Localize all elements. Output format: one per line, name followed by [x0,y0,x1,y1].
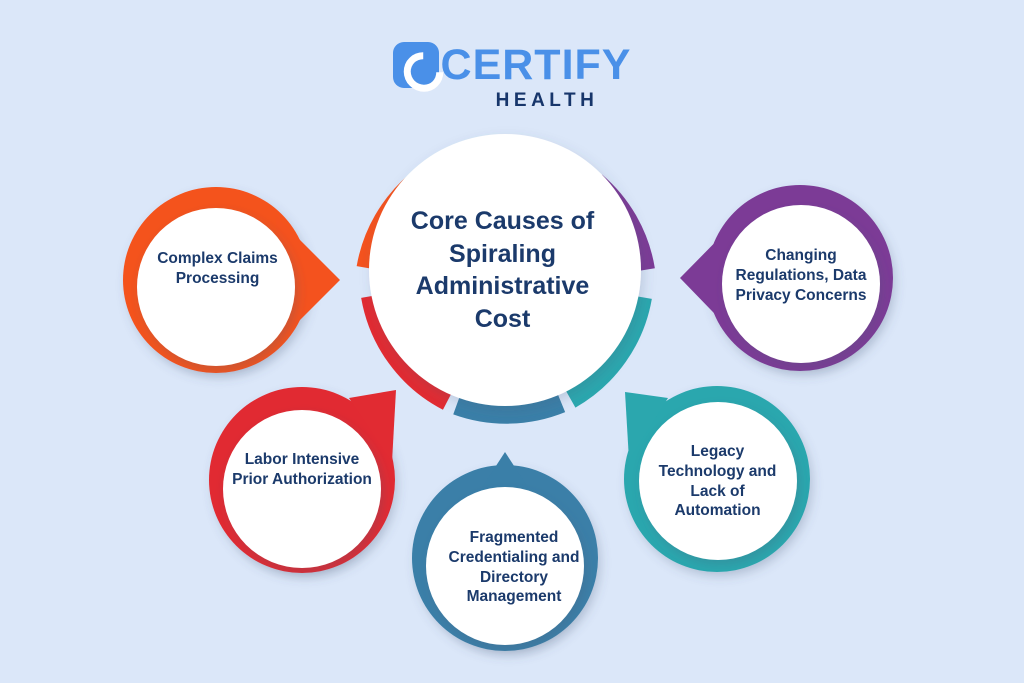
node-circle-orange [137,208,295,366]
node-circle-red [223,410,381,568]
node-labor-intensive-prior-authorization[interactable] [209,387,396,573]
node-legacy-technology[interactable] [624,386,810,572]
node-circle-blue [426,487,584,645]
diagram-graphics [0,0,1024,683]
node-complex-claims-processing[interactable] [123,187,340,373]
node-circle-teal [639,402,797,560]
node-circle-purple [722,205,880,363]
node-changing-regulations[interactable] [680,185,893,371]
infographic-canvas: CERTIFY HEALTH [0,0,1024,683]
node-fragmented-credentialing[interactable] [412,452,598,651]
center-title: Core Causes of Spiraling Administrative … [385,205,620,335]
